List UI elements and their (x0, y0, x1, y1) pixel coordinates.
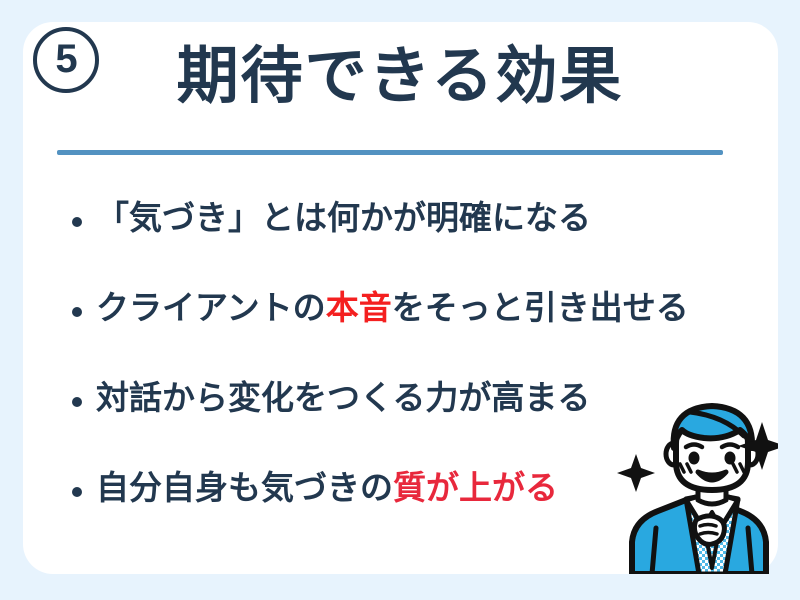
bullet-item-label: 自分自身も気づきの質が上がる (96, 466, 558, 511)
bullet-text-highlight: 質が上がる (393, 469, 558, 506)
bullet-text-segment: をそっと引き出せる (392, 289, 689, 326)
bullet-item-label: 「気づき」とは何かが明確になる (96, 196, 591, 241)
bullet-item: 「気づき」とは何かが明確になる (72, 196, 732, 286)
bullet-dot-icon (72, 397, 82, 407)
smiling-businessman-illustration (612, 392, 792, 574)
bullet-dot-icon (72, 307, 82, 317)
bullet-dot-icon (72, 217, 82, 227)
bullet-item-label: 対話から変化をつくる力が高まる (96, 376, 590, 421)
title-divider (57, 150, 723, 155)
bullet-text-segment: クライアントの (96, 289, 326, 326)
page-title: 期待できる効果 (0, 46, 800, 108)
bullet-item-label: クライアントの本音をそっと引き出せる (96, 286, 689, 331)
bullet-text-segment: 自分自身も気づきの (96, 469, 393, 506)
bullet-dot-icon (72, 487, 82, 497)
bullet-text-segment: 「気づき」とは何かが明確になる (96, 199, 591, 236)
bullet-item: クライアントの本音をそっと引き出せる (72, 286, 732, 376)
bullet-text-highlight: 本音 (326, 289, 392, 326)
slide-root: 5 期待できる効果 「気づき」とは何かが明確になるクライアントの本音をそっと引き… (0, 0, 800, 600)
bullet-text-segment: 対話から変化をつくる力が高まる (96, 379, 590, 416)
